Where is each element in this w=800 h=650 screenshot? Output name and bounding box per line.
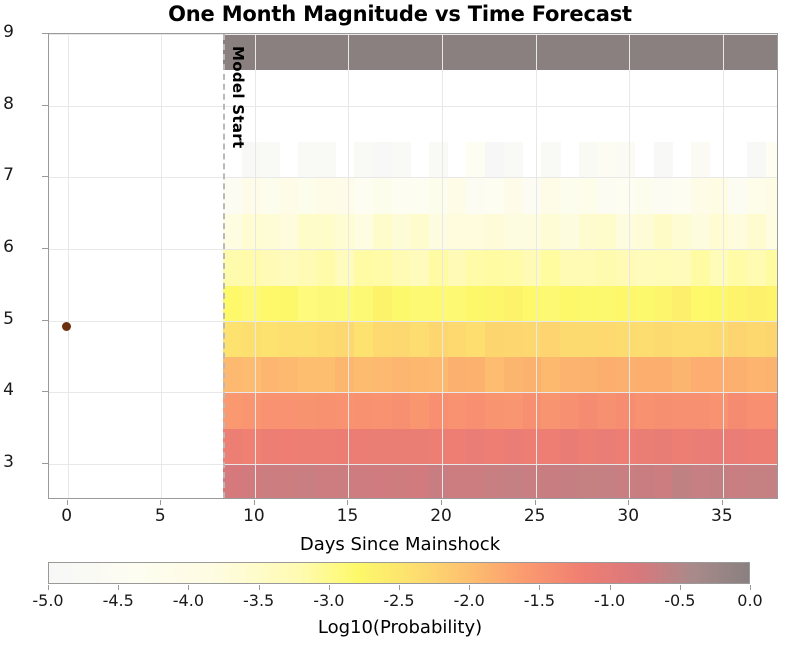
x-axis-label: Days Since Mainshock (0, 534, 800, 555)
colorbar-tick-label: -1.5 (509, 591, 569, 610)
colorbar-tick-label: -3.5 (229, 591, 289, 610)
y-axis-tick-mark (42, 176, 48, 177)
y-axis-tick-mark (42, 105, 48, 106)
colorbar-tick-label: -2.5 (369, 591, 429, 610)
y-axis-tick-label: 6 (0, 237, 14, 257)
x-axis-tick-mark (628, 500, 629, 505)
x-axis-tick-label: 20 (411, 506, 471, 526)
x-axis-tick-mark (160, 500, 161, 505)
colorbar-tick-mark (539, 585, 540, 590)
x-axis-tick-mark (441, 500, 442, 505)
forecast-chart: One Month Magnitude vs Time Forecast Mod… (0, 0, 800, 650)
colorbar-tick-mark (188, 585, 189, 590)
colorbar-tick-label: -2.0 (439, 591, 499, 610)
x-axis-tick-mark (254, 500, 255, 505)
x-axis-tick-mark (67, 500, 68, 505)
y-axis-tick-label: 5 (0, 309, 14, 329)
colorbar-tick-mark (680, 585, 681, 590)
colorbar-tick-mark (48, 585, 49, 590)
colorbar-label: Log10(Probability) (0, 617, 800, 638)
y-axis-tick-label: 8 (0, 94, 14, 114)
y-axis-tick-mark (42, 33, 48, 34)
x-axis-tick-mark (535, 500, 536, 505)
y-axis-tick-mark (42, 463, 48, 464)
x-axis-tick-label: 10 (224, 506, 284, 526)
colorbar-tick-mark (399, 585, 400, 590)
y-axis-tick-mark (42, 248, 48, 249)
colorbar-tick-mark (329, 585, 330, 590)
x-axis-tick-label: 30 (598, 506, 658, 526)
y-axis-tick-label: 9 (0, 22, 14, 42)
model-start-line (223, 34, 225, 498)
plot-area: Model Start (48, 33, 778, 499)
x-axis-tick-label: 0 (37, 506, 97, 526)
y-axis-tick-label: 3 (0, 452, 14, 472)
colorbar-gradient (49, 563, 749, 583)
colorbar (48, 562, 750, 584)
colorbar-tick-label: -3.0 (299, 591, 359, 610)
chart-title: One Month Magnitude vs Time Forecast (0, 2, 800, 26)
colorbar-tick-mark (118, 585, 119, 590)
colorbar-tick-label: -4.0 (158, 591, 218, 610)
x-axis-tick-label: 35 (692, 506, 752, 526)
x-axis-tick-mark (347, 500, 348, 505)
plot-overlay: Model Start (49, 34, 777, 498)
colorbar-tick-label: 0.0 (720, 591, 780, 610)
x-axis-tick-label: 5 (130, 506, 190, 526)
model-start-label: Model Start (229, 46, 247, 148)
colorbar-tick-label: -0.5 (650, 591, 710, 610)
y-axis-tick-label: 7 (0, 165, 14, 185)
x-axis-tick-label: 25 (505, 506, 565, 526)
colorbar-tick-mark (610, 585, 611, 590)
colorbar-tick-label: -5.0 (18, 591, 78, 610)
colorbar-tick-mark (469, 585, 470, 590)
colorbar-tick-mark (750, 585, 751, 590)
colorbar-tick-mark (259, 585, 260, 590)
y-axis-tick-label: 4 (0, 380, 14, 400)
x-axis-tick-mark (722, 500, 723, 505)
y-axis-tick-mark (42, 391, 48, 392)
y-axis-tick-mark (42, 320, 48, 321)
x-axis-tick-label: 15 (317, 506, 377, 526)
colorbar-tick-label: -4.5 (88, 591, 148, 610)
colorbar-tick-label: -1.0 (580, 591, 640, 610)
